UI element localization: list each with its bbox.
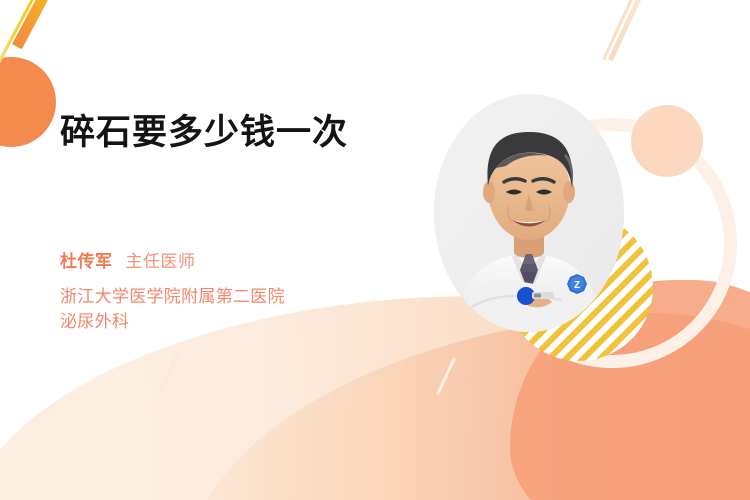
headline-block: 碎石要多少钱一次 — [60, 112, 430, 154]
doctor-title: 主任医师 — [126, 252, 196, 271]
svg-text:Z: Z — [574, 280, 580, 291]
yellow-stripe-decoration — [0, 0, 41, 64]
page-title: 碎石要多少钱一次 — [60, 112, 430, 154]
doctor-byline: 杜传军主任医师 — [60, 247, 196, 272]
orange-stripe-decoration — [12, 0, 59, 49]
faint-stripe-decoration-bottom-3 — [436, 357, 456, 395]
faint-stripe-decoration-bottom-2 — [159, 351, 181, 393]
doctor-hospital: 浙江大学医学院附属第二医院 — [60, 285, 285, 310]
doctor-portrait: Z — [434, 94, 624, 332]
faint-stripe-decoration-bottom-1 — [153, 351, 174, 392]
doctor-department: 泌尿外科 — [60, 310, 285, 335]
faint-stripe-decoration-top-right-2 — [608, 0, 653, 61]
orange-circle-decoration — [0, 57, 56, 147]
doctor-qa-card: Z 碎石要多少钱一次 杜传军主任医师 浙江大学医学院附属第二医院 泌尿外科 — [0, 0, 750, 500]
doctor-affiliation: 浙江大学医学院附属第二医院 泌尿外科 — [60, 285, 285, 334]
peach-circle-decoration — [631, 105, 703, 177]
faint-stripe-decoration-top-right-1 — [602, 0, 643, 60]
doctor-name: 杜传军 — [60, 252, 113, 271]
